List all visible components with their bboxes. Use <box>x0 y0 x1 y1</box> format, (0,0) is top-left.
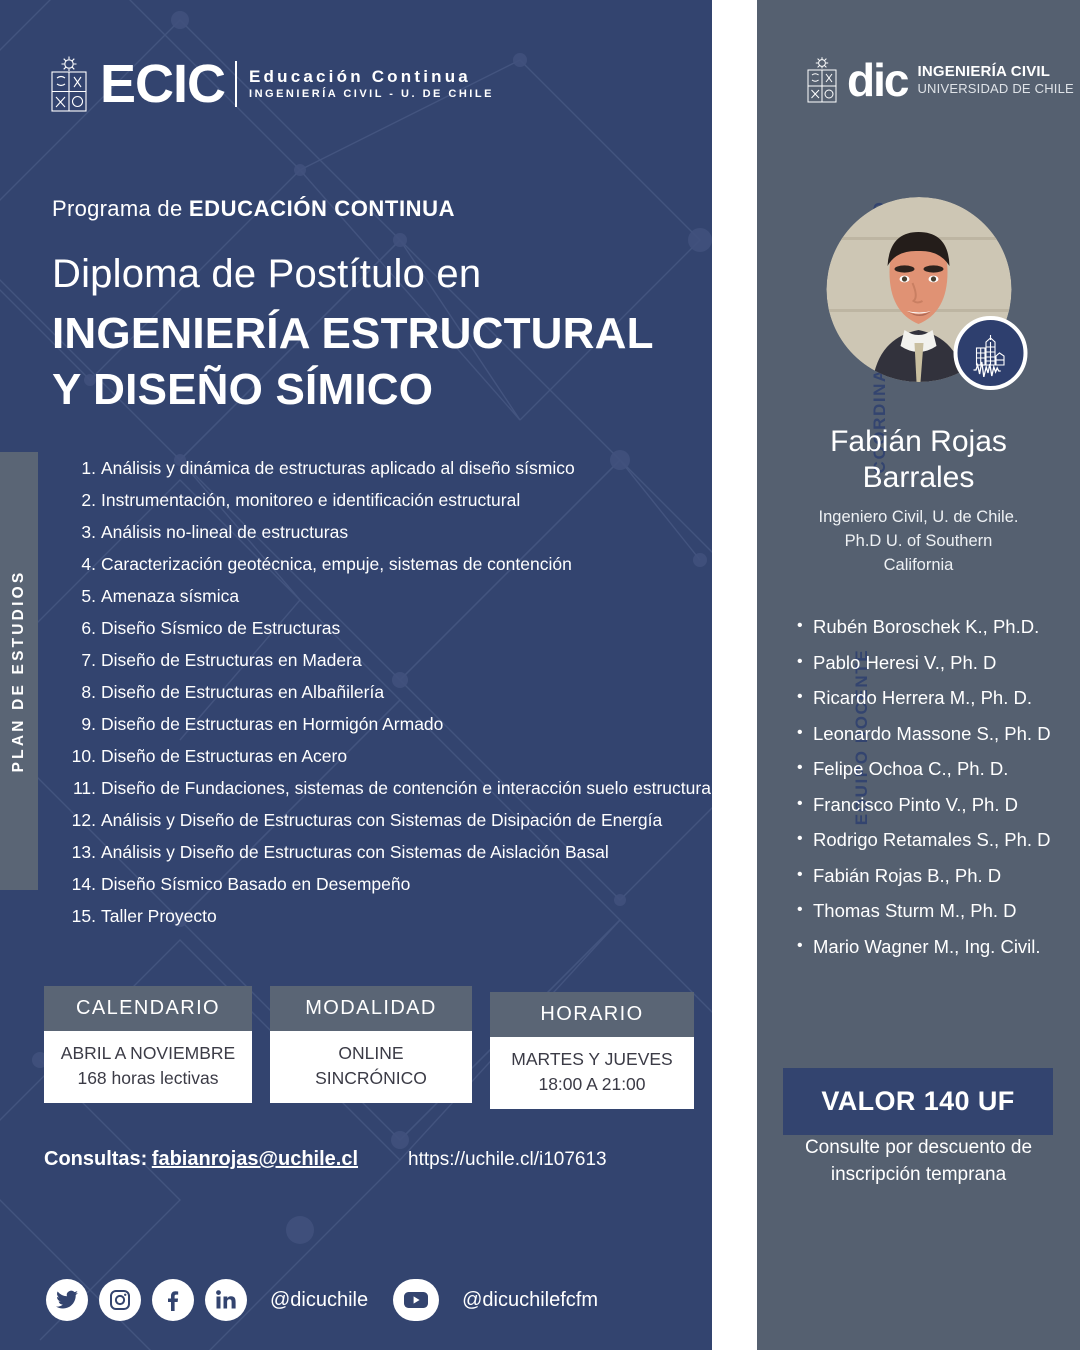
dic-tagline-line2: UNIVERSIDAD DE CHILE <box>917 82 1073 97</box>
coordinator-name-line1: Fabián Rojas <box>757 424 1080 460</box>
kicker-prefix: Programa de <box>52 196 189 221</box>
page-title-line1: INGENIERÍA ESTRUCTURAL <box>52 306 654 362</box>
price-note-line1: Consulte por descuento de <box>777 1135 1060 1162</box>
list-item-number: 9. <box>62 708 101 740</box>
list-item-number: 10. <box>62 740 101 772</box>
twitter-icon <box>55 1288 79 1312</box>
info-box-body: ABRIL A NOVIEMBRE 168 horas lectivas <box>44 1031 252 1103</box>
info-box-heading: MODALIDAD <box>270 986 472 1031</box>
list-item-label: Amenaza sísmica <box>101 580 712 612</box>
credentials-line1: Ingeniero Civil, U. de Chile. <box>781 506 1056 530</box>
list-item: •Leonardo Massone S., Ph. D <box>797 725 1051 744</box>
list-item-number: 7. <box>62 644 101 676</box>
list-item-label: Instrumentación, monitoreo e identificac… <box>101 484 712 516</box>
list-item-label: Taller Proyecto <box>101 900 712 932</box>
list-item: 7.Diseño de Estructuras en Madera <box>62 644 712 676</box>
coordinator-name-line2: Barrales <box>757 460 1080 496</box>
info-box-line1: MARTES Y JUEVES <box>504 1047 680 1072</box>
list-item-label: Rodrigo Retamales S., Ph. D <box>813 831 1051 850</box>
list-item: 10.Diseño de Estructuras en Acero <box>62 740 712 772</box>
ecic-tagline-line2: INGENIERÍA CIVIL - U. DE CHILE <box>249 89 494 100</box>
list-item-number: 5. <box>62 580 101 612</box>
bullet-icon: • <box>797 725 813 742</box>
list-item-label: Mario Wagner M., Ing. Civil. <box>813 938 1051 957</box>
list-item-label: Diseño Sísmico Basado en Desempeño <box>101 868 712 900</box>
price-note: Consulte por descuento de inscripción te… <box>777 1135 1060 1188</box>
list-item-label: Análisis no-lineal de estructuras <box>101 516 712 548</box>
info-box-line1: ABRIL A NOVIEMBRE <box>58 1041 238 1066</box>
dic-tagline: INGENIERÍA CIVIL UNIVERSIDAD DE CHILE <box>917 63 1073 96</box>
list-item: 3.Análisis no-lineal de estructuras <box>62 516 712 548</box>
social-handle-main: @dicuchile <box>270 1289 368 1312</box>
list-item-number: 2. <box>62 484 101 516</box>
list-item-label: Rubén Boroschek K., Ph.D. <box>813 618 1051 637</box>
list-item-number: 3. <box>62 516 101 548</box>
contact-group: Consultas: fabianrojas@uchile.cl <box>44 1148 358 1171</box>
bullet-icon: • <box>797 618 813 635</box>
left-blue-panel: PLAN DE ESTUDIOS ECIC Educación Cont <box>0 0 712 1350</box>
list-item-label: Fabián Rojas B., Ph. D <box>813 867 1051 886</box>
bullet-icon: • <box>797 654 813 671</box>
page-title-line2: Y DISEÑO SÍMICO <box>52 362 654 418</box>
info-box-body: MARTES Y JUEVES 18:00 A 21:00 <box>490 1037 694 1109</box>
facebook-button[interactable] <box>152 1279 194 1321</box>
info-box-body: ONLINE SINCRÓNICO <box>270 1031 472 1103</box>
bullet-icon: • <box>797 796 813 813</box>
info-box-heading: CALENDARIO <box>44 986 252 1031</box>
info-box-calendario: CALENDARIO ABRIL A NOVIEMBRE 168 horas l… <box>44 986 252 1103</box>
logo-divider <box>235 61 237 107</box>
list-item-label: Análisis y Diseño de Estructuras con Sis… <box>101 804 712 836</box>
poster-root: PLAN DE ESTUDIOS ECIC Educación Cont <box>0 0 1080 1350</box>
universidad-de-chile-shield-icon <box>805 56 839 104</box>
list-item-number: 12. <box>62 804 101 836</box>
info-box-heading: HORARIO <box>490 992 694 1037</box>
facebook-icon <box>161 1288 185 1312</box>
list-item: •Pablo Heresi V., Ph. D <box>797 654 1051 673</box>
list-item: 11.Diseño de Fundaciones, sistemas de co… <box>62 772 712 804</box>
list-item-label: Diseño de Estructuras en Hormigón Armado <box>101 708 712 740</box>
list-item-number: 11. <box>62 772 101 804</box>
plan-de-estudios-label: PLAN DE ESTUDIOS <box>10 570 28 773</box>
program-url-link[interactable]: https://uchile.cl/i107613 <box>408 1149 607 1171</box>
contact-email-link[interactable]: fabianrojas@uchile.cl <box>152 1148 358 1170</box>
list-item-number: 14. <box>62 868 101 900</box>
program-kicker: Programa de EDUCACIÓN CONTINUA <box>52 196 455 222</box>
list-item: •Rubén Boroschek K., Ph.D. <box>797 618 1051 637</box>
bullet-icon: • <box>797 938 813 955</box>
seismic-building-badge <box>953 316 1027 390</box>
list-item: 6.Diseño Sísmico de Estructuras <box>62 612 712 644</box>
seismic-building-icon <box>966 329 1014 377</box>
page-subtitle: Diploma de Postítulo en <box>52 252 481 297</box>
list-item: 12.Análisis y Diseño de Estructuras con … <box>62 804 712 836</box>
list-item-label: Pablo Heresi V., Ph. D <box>813 654 1051 673</box>
bullet-icon: • <box>797 867 813 884</box>
list-item-label: Caracterización geotécnica, empuje, sist… <box>101 548 712 580</box>
info-boxes: CALENDARIO ABRIL A NOVIEMBRE 168 horas l… <box>44 986 694 1109</box>
info-box-line2: SINCRÓNICO <box>284 1066 458 1091</box>
list-item-label: Diseño Sísmico de Estructuras <box>101 612 712 644</box>
list-item-label: Felipe Ochoa C., Ph. D. <box>813 760 1051 779</box>
coordinator-photo-wrap <box>826 197 1011 382</box>
coordinator-credentials: Ingeniero Civil, U. de Chile. Ph.D U. of… <box>781 506 1056 578</box>
youtube-icon <box>403 1290 429 1310</box>
plan-de-estudios-side-tab: PLAN DE ESTUDIOS <box>0 452 38 890</box>
ecic-wordmark: ECIC <box>100 57 225 111</box>
social-bar: @dicuchile @dicuchilefcfm <box>46 1279 612 1321</box>
list-item: 5.Amenaza sísmica <box>62 580 712 612</box>
list-item: •Francisco Pinto V., Ph. D <box>797 796 1051 815</box>
list-item-label: Ricardo Herrera M., Ph. D. <box>813 689 1051 708</box>
list-item-number: 6. <box>62 612 101 644</box>
list-item: 4.Caracterización geotécnica, empuje, si… <box>62 548 712 580</box>
bullet-icon: • <box>797 902 813 919</box>
contact-label: Consultas: <box>44 1148 147 1170</box>
list-item: •Ricardo Herrera M., Ph. D. <box>797 689 1051 708</box>
info-box-modalidad: MODALIDAD ONLINE SINCRÓNICO <box>270 986 472 1103</box>
youtube-button[interactable] <box>393 1279 439 1321</box>
page-title: INGENIERÍA ESTRUCTURAL Y DISEÑO SÍMICO <box>52 306 654 419</box>
info-box-line2: 18:00 A 21:00 <box>504 1072 680 1097</box>
info-box-line1: ONLINE <box>284 1041 458 1066</box>
right-gray-panel: COORDINADOR ACADÉMICO EQUIPO DOCENTE dic… <box>757 0 1080 1350</box>
list-item-label: Francisco Pinto V., Ph. D <box>813 796 1051 815</box>
info-box-line2: 168 horas lectivas <box>58 1066 238 1091</box>
list-item: •Mario Wagner M., Ing. Civil. <box>797 938 1051 957</box>
ecic-logo: ECIC Educación Continua INGENIERÍA CIVIL… <box>48 55 494 113</box>
list-item-number: 1. <box>62 452 101 484</box>
twitter-button[interactable] <box>46 1279 88 1321</box>
credentials-line3: California <box>781 554 1056 578</box>
list-item-label: Diseño de Fundaciones, sistemas de conte… <box>101 772 712 804</box>
instagram-icon <box>108 1288 132 1312</box>
list-item-label: Análisis y Diseño de Estructuras con Sis… <box>101 836 712 868</box>
bullet-icon: • <box>797 689 813 706</box>
list-item-number: 8. <box>62 676 101 708</box>
list-item: •Rodrigo Retamales S., Ph. D <box>797 831 1051 850</box>
list-item: 1.Análisis y dinámica de estructuras apl… <box>62 452 712 484</box>
list-item: 8.Diseño de Estructuras en Albañilería <box>62 676 712 708</box>
social-handle-youtube: @dicuchilefcfm <box>462 1289 598 1312</box>
list-item-number: 15. <box>62 900 101 932</box>
kicker-strong: EDUCACIÓN CONTINUA <box>189 196 455 221</box>
price-note-line2: inscripción temprana <box>777 1162 1060 1189</box>
list-item-label: Thomas Sturm M., Ph. D <box>813 902 1051 921</box>
universidad-de-chile-shield-icon <box>48 55 90 113</box>
list-item: 2.Instrumentación, monitoreo e identific… <box>62 484 712 516</box>
dic-tagline-line1: INGENIERÍA CIVIL <box>917 63 1073 80</box>
list-item-label: Diseño de Estructuras en Acero <box>101 740 712 772</box>
dic-wordmark: dic <box>847 57 907 103</box>
instagram-button[interactable] <box>99 1279 141 1321</box>
linkedin-button[interactable] <box>205 1279 247 1321</box>
credentials-line2: Ph.D U. of Southern <box>781 530 1056 554</box>
list-item: 15.Taller Proyecto <box>62 900 712 932</box>
list-item-label: Diseño de Estructuras en Madera <box>101 644 712 676</box>
list-item-number: 4. <box>62 548 101 580</box>
list-item: 9.Diseño de Estructuras en Hormigón Arma… <box>62 708 712 740</box>
ecic-tagline-line1: Educación Continua <box>249 68 494 85</box>
bullet-icon: • <box>797 831 813 848</box>
linkedin-icon <box>214 1288 238 1312</box>
list-item: •Thomas Sturm M., Ph. D <box>797 902 1051 921</box>
price-badge: VALOR 140 UF <box>783 1068 1053 1135</box>
list-item-label: Diseño de Estructuras en Albañilería <box>101 676 712 708</box>
teaching-team-list: •Rubén Boroschek K., Ph.D. •Pablo Heresi… <box>797 618 1051 973</box>
dic-logo: dic INGENIERÍA CIVIL UNIVERSIDAD DE CHIL… <box>805 56 1074 104</box>
list-item: •Felipe Ochoa C., Ph. D. <box>797 760 1051 779</box>
list-item: 14.Diseño Sísmico Basado en Desempeño <box>62 868 712 900</box>
list-item-number: 13. <box>62 836 101 868</box>
curriculum-list: 1.Análisis y dinámica de estructuras apl… <box>62 452 712 932</box>
list-item: 13.Análisis y Diseño de Estructuras con … <box>62 836 712 868</box>
ecic-tagline: Educación Continua INGENIERÍA CIVIL - U.… <box>249 68 494 100</box>
coordinator-name: Fabián Rojas Barrales <box>757 424 1080 496</box>
list-item: •Fabián Rojas B., Ph. D <box>797 867 1051 886</box>
list-item-label: Leonardo Massone S., Ph. D <box>813 725 1051 744</box>
list-item-label: Análisis y dinámica de estructuras aplic… <box>101 452 712 484</box>
info-box-horario: HORARIO MARTES Y JUEVES 18:00 A 21:00 <box>490 992 694 1109</box>
contact-row: Consultas: fabianrojas@uchile.cl https:/… <box>44 1148 607 1171</box>
bullet-icon: • <box>797 760 813 777</box>
